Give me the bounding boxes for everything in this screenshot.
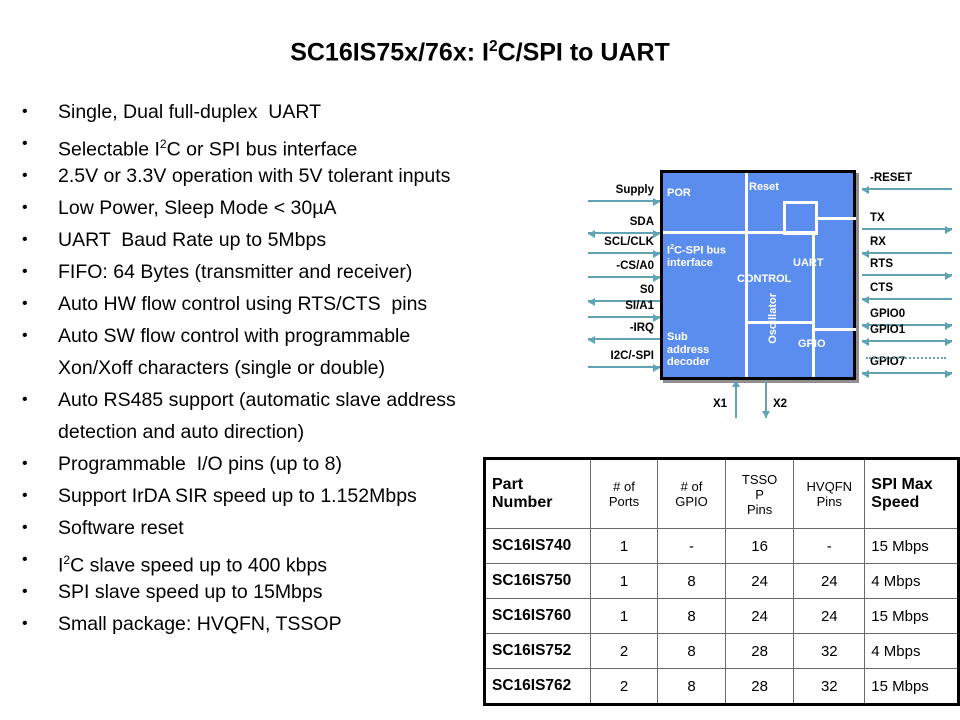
feature-label: Xon/Xoff characters (single or double) — [58, 352, 522, 384]
feature-label: detection and auto direction) — [58, 416, 522, 448]
arrow-head-right — [945, 322, 952, 330]
arrow-head-left — [862, 186, 869, 194]
chip-body: POR I2C-SPI bus interface Subaddressdeco… — [660, 170, 856, 380]
feature-item: •Auto HW flow control using RTS/CTS pins — [22, 288, 522, 320]
block-diagram: POR I2C-SPI bus interface Subaddressdeco… — [580, 160, 960, 425]
cell-spi: 15 Mbps — [865, 529, 959, 564]
pin-label-GPIO0: GPIO0 — [870, 308, 905, 320]
cell-ports: 1 — [590, 529, 657, 564]
header-num-ports: # ofPorts — [590, 459, 657, 529]
bullet-icon: • — [22, 128, 58, 160]
divider-reset-box-top — [783, 201, 818, 204]
feature-item: •Xon/Xoff characters (single or double) — [22, 352, 522, 384]
feature-label: Support IrDA SIR speed up to 1.152Mbps — [58, 480, 522, 512]
signal-line — [588, 276, 660, 278]
header-tssop-pins: TSSOPPins — [725, 459, 793, 529]
cell-gpio: 8 — [658, 669, 726, 705]
bullet-icon: • — [22, 256, 58, 288]
arrow-head-right — [653, 230, 660, 238]
divider-control-osc — [745, 321, 815, 324]
arrow-head-left — [862, 322, 869, 330]
feature-item: •Programmable I/O pins (up to 8) — [22, 448, 522, 480]
pin-label-IRQ: -IRQ — [580, 322, 654, 334]
part-number-table: Part Number # ofPorts # ofGPIO TSSOPPins… — [483, 457, 960, 706]
cell-part: SC16IS762 — [485, 669, 591, 705]
arrow-head-up — [732, 380, 740, 387]
bullet-icon: • — [22, 544, 58, 576]
block-por: POR — [667, 187, 691, 200]
signal-line — [862, 228, 952, 230]
signal-line — [862, 188, 952, 190]
title-suffix: C/SPI to UART — [498, 38, 670, 66]
table-header-row: Part Number # ofPorts # ofGPIO TSSOPPins… — [485, 459, 959, 529]
pin-label-GPIO1: GPIO1 — [870, 324, 905, 336]
feature-label: FIFO: 64 Bytes (transmitter and receiver… — [58, 256, 522, 288]
feature-label: SPI slave speed up to 15Mbps — [58, 576, 522, 608]
feature-item: •2.5V or 3.3V operation with 5V tolerant… — [22, 160, 522, 192]
cell-tssop: 24 — [725, 564, 793, 599]
signal-line — [862, 274, 952, 276]
cell-spi: 4 Mbps — [865, 634, 959, 669]
block-control: CONTROL — [737, 273, 791, 286]
signal-line — [588, 252, 660, 254]
divider-por-bus — [663, 231, 745, 234]
divider-reset-box-bottom — [783, 232, 818, 235]
cell-hvqfn: 32 — [794, 634, 865, 669]
arrow-head-left — [862, 296, 869, 304]
pin-label-SDA: SDA — [580, 216, 654, 228]
bullet-icon: • — [22, 288, 58, 320]
pin-label-RX: RX — [870, 236, 886, 248]
arrow-head-left — [862, 250, 869, 258]
cell-hvqfn: - — [794, 529, 865, 564]
cell-gpio: 8 — [658, 599, 726, 634]
cell-tssop: 28 — [725, 634, 793, 669]
table-row: SC16IS7522828324 Mbps — [485, 634, 959, 669]
bullet-icon: • — [22, 512, 58, 544]
feature-item: •SPI slave speed up to 15Mbps — [22, 576, 522, 608]
pin-label-SIA1: SI/A1 — [580, 300, 654, 312]
pin-label-CSA0: -CS/A0 — [580, 260, 654, 272]
bullet-icon: • — [22, 448, 58, 480]
arrow-head-down — [762, 411, 770, 418]
arrow-head-right — [653, 198, 660, 206]
cell-ports: 2 — [590, 634, 657, 669]
title-superscript: 2 — [489, 38, 498, 55]
cell-tssop: 16 — [725, 529, 793, 564]
cell-spi: 15 Mbps — [865, 669, 959, 705]
cell-hvqfn: 24 — [794, 564, 865, 599]
block-bus-interface: I2C-SPI bus interface — [667, 243, 745, 270]
signal-line — [588, 316, 660, 318]
block-uart: UART — [793, 257, 824, 270]
divider-reset-out — [815, 217, 856, 220]
feature-label: Auto HW flow control using RTS/CTS pins — [58, 288, 522, 320]
bullet-icon: • — [22, 320, 58, 352]
page-title: SC16IS75x/76x: I2C/SPI to UART — [0, 38, 960, 67]
title-prefix: SC16IS75x/76x: I — [290, 38, 489, 66]
feature-label: Small package: HVQFN, TSSOP — [58, 608, 522, 640]
arrow-head-left — [588, 336, 595, 344]
header-num-gpio: # ofGPIO — [658, 459, 726, 529]
signal-line — [588, 366, 660, 368]
feature-label: Auto SW flow control with programmable — [58, 320, 522, 352]
pin-label-RESET: -RESET — [870, 172, 912, 184]
arrow-head-right — [945, 272, 952, 280]
cell-gpio: - — [658, 529, 726, 564]
cell-hvqfn: 32 — [794, 669, 865, 705]
header-hvqfn-pins: HVQFNPins — [794, 459, 865, 529]
feature-bullet-list: •Single, Dual full-duplex UART•Selectabl… — [22, 96, 522, 640]
signal-line — [862, 298, 952, 300]
table-row: SC16IS76018242415 Mbps — [485, 599, 959, 634]
signal-line — [588, 200, 660, 202]
arrow-head-right — [945, 338, 952, 346]
bullet-icon: • — [22, 96, 58, 128]
bullet-icon: • — [22, 576, 58, 608]
cell-tssop: 24 — [725, 599, 793, 634]
feature-item: •Support IrDA SIR speed up to 1.152Mbps — [22, 480, 522, 512]
pin-label-TX: TX — [870, 212, 885, 224]
bullet-icon: • — [22, 480, 58, 512]
arrow-head-right — [653, 314, 660, 322]
signal-line — [588, 232, 660, 234]
pin-label-X1: X1 — [713, 398, 727, 410]
feature-item: •FIFO: 64 Bytes (transmitter and receive… — [22, 256, 522, 288]
cell-part: SC16IS740 — [485, 529, 591, 564]
feature-item: •Auto SW flow control with programmable — [22, 320, 522, 352]
arrow-head-right — [945, 370, 952, 378]
block-sub-address-decoder: Subaddressdecoder — [667, 331, 739, 369]
header-part-number: Part Number — [485, 459, 591, 529]
feature-label: 2.5V or 3.3V operation with 5V tolerant … — [58, 160, 522, 192]
pin-label-SCLCLK: SCL/CLK — [580, 236, 654, 248]
table-row: SC16IS7401-16-15 Mbps — [485, 529, 959, 564]
arrow-head-right — [653, 364, 660, 372]
arrow-head-right — [653, 274, 660, 282]
bullet-icon: • — [22, 224, 58, 256]
cell-part: SC16IS752 — [485, 634, 591, 669]
feature-item: •Selectable I2C or SPI bus interface — [22, 128, 522, 160]
feature-item: •Auto RS485 support (automatic slave add… — [22, 384, 522, 416]
feature-item: •Low Power, Sleep Mode < 30µA — [22, 192, 522, 224]
cell-part: SC16IS760 — [485, 599, 591, 634]
feature-item: •Small package: HVQFN, TSSOP — [22, 608, 522, 640]
cell-ports: 2 — [590, 669, 657, 705]
cell-spi: 15 Mbps — [865, 599, 959, 634]
divider-uart-gpio — [812, 328, 856, 331]
arrow-head-right — [653, 250, 660, 258]
cell-gpio: 8 — [658, 634, 726, 669]
block-oscillator: Oscillator — [767, 293, 780, 344]
slide-canvas: SC16IS75x/76x: I2C/SPI to UART •Single, … — [0, 0, 960, 720]
header-spi-max-speed: SPI MaxSpeed — [865, 459, 959, 529]
pin-label-X2: X2 — [773, 398, 787, 410]
divider-control-right — [812, 231, 815, 377]
signal-line — [862, 340, 952, 342]
cell-hvqfn: 24 — [794, 599, 865, 634]
feature-label: Low Power, Sleep Mode < 30µA — [58, 192, 522, 224]
pin-label-RTS: RTS — [870, 258, 893, 270]
feature-label: Auto RS485 support (automatic slave addr… — [58, 384, 522, 416]
feature-item: •UART Baud Rate up to 5Mbps — [22, 224, 522, 256]
signal-line — [862, 252, 952, 254]
table-row: SC16IS7501824244 Mbps — [485, 564, 959, 599]
block-gpio: GPIO — [798, 338, 826, 351]
bullet-icon: • — [22, 160, 58, 192]
bullet-icon: • — [22, 384, 58, 416]
feature-item: •I2C slave speed up to 400 kbps — [22, 544, 522, 576]
signal-line — [588, 338, 660, 340]
arrow-head-right — [945, 226, 952, 234]
feature-item: •Software reset — [22, 512, 522, 544]
feature-item: •Single, Dual full-duplex UART — [22, 96, 522, 128]
arrow-head-left — [862, 338, 869, 346]
cell-gpio: 8 — [658, 564, 726, 599]
table-row: SC16IS76228283215 Mbps — [485, 669, 959, 705]
gpio-ellipsis-rule — [866, 357, 946, 359]
block-reset: Reset — [749, 181, 779, 194]
bullet-icon: • — [22, 192, 58, 224]
pin-label-Supply: Supply — [580, 184, 654, 196]
feature-label: UART Baud Rate up to 5Mbps — [58, 224, 522, 256]
feature-item: •detection and auto direction) — [22, 416, 522, 448]
cell-part: SC16IS750 — [485, 564, 591, 599]
divider-reset-box-left — [783, 201, 786, 235]
arrow-head-left — [862, 370, 869, 378]
pin-label-I2CSPI: I2C/-SPI — [580, 350, 654, 362]
table-body: SC16IS7401-16-15 MbpsSC16IS7501824244 Mb… — [485, 529, 959, 705]
feature-label: Single, Dual full-duplex UART — [58, 96, 522, 128]
cell-spi: 4 Mbps — [865, 564, 959, 599]
cell-tssop: 28 — [725, 669, 793, 705]
cell-ports: 1 — [590, 599, 657, 634]
pin-label-CTS: CTS — [870, 282, 893, 294]
feature-label: Software reset — [58, 512, 522, 544]
bullet-icon: • — [22, 608, 58, 640]
pin-label-S0: S0 — [580, 284, 654, 296]
feature-label: Programmable I/O pins (up to 8) — [58, 448, 522, 480]
signal-line — [862, 372, 952, 374]
cell-ports: 1 — [590, 564, 657, 599]
